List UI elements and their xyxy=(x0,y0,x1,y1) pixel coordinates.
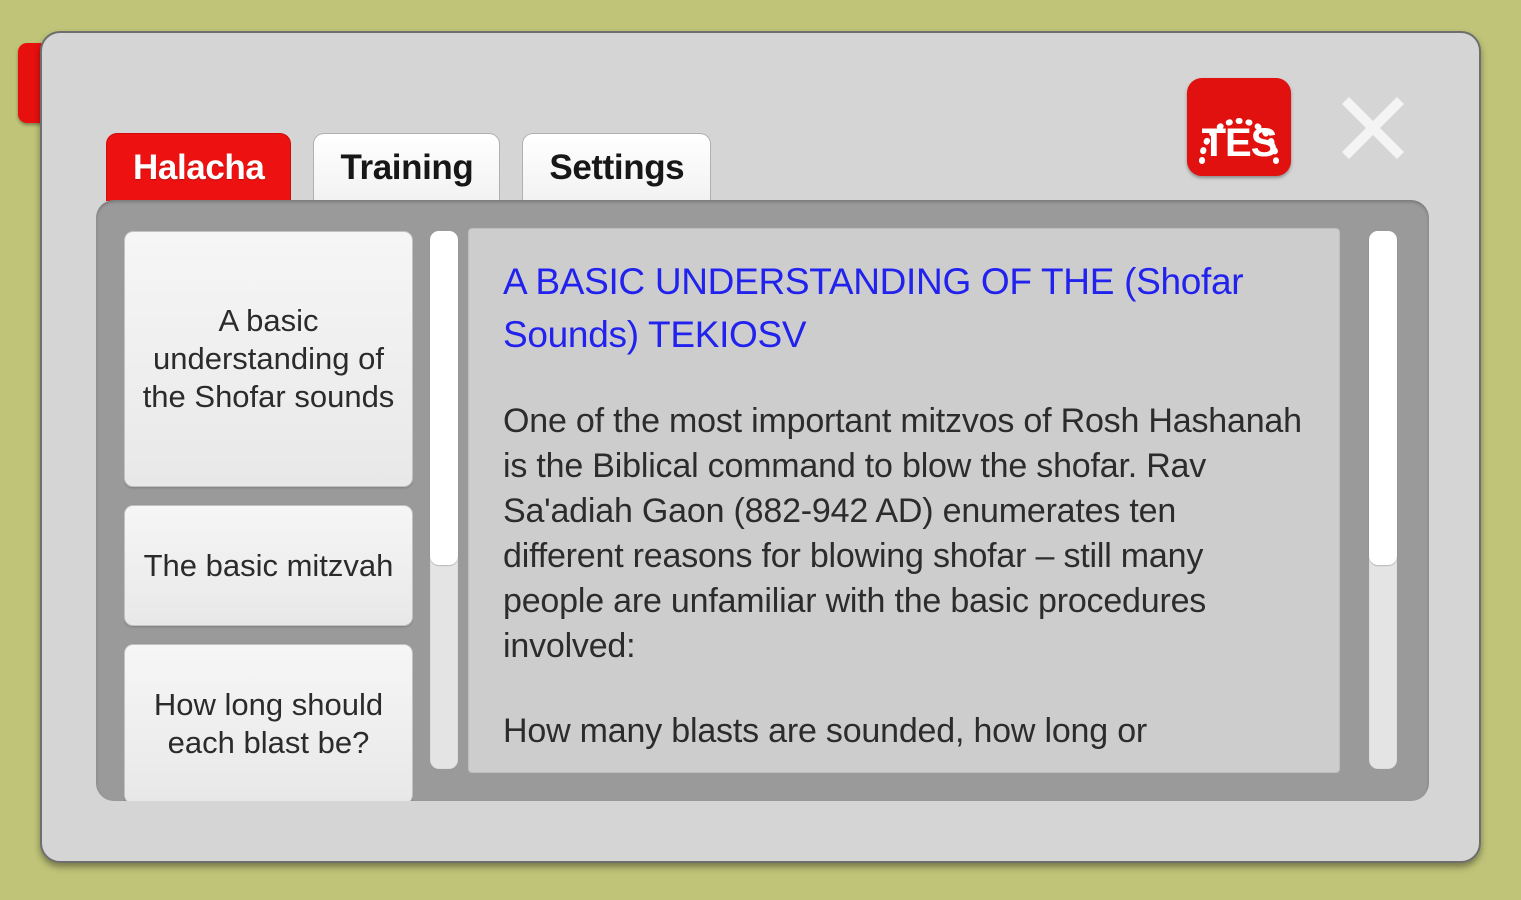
topic-list-scrollbar[interactable] xyxy=(430,231,458,769)
article-scrollbar[interactable] xyxy=(1369,231,1397,769)
article-pane[interactable]: A BASIC UNDERSTANDING OF THE (Shofar Sou… xyxy=(468,228,1340,773)
list-item[interactable]: How long should each blast be? xyxy=(124,644,413,801)
list-item[interactable]: The basic mitzvah xyxy=(124,505,413,626)
content-panel: A basic understanding of the Shofar soun… xyxy=(96,200,1429,801)
tab-halacha-label: Halacha xyxy=(133,148,264,188)
topic-label: How long should each blast be? xyxy=(137,686,400,762)
scrollbar-thumb[interactable] xyxy=(430,231,458,565)
tes-logo-label: TES xyxy=(1187,123,1291,163)
tab-training[interactable]: Training xyxy=(313,133,500,201)
main-dialog: Halacha Training Settings TES A basic un… xyxy=(40,31,1481,863)
tab-settings-label: Settings xyxy=(549,148,684,188)
tes-logo-icon: TES xyxy=(1187,78,1291,176)
tab-settings[interactable]: Settings xyxy=(522,133,711,201)
list-item[interactable]: A basic understanding of the Shofar soun… xyxy=(124,231,413,487)
tab-halacha[interactable]: Halacha xyxy=(106,133,291,201)
topic-label: The basic mitzvah xyxy=(144,547,394,585)
close-x-icon xyxy=(1330,85,1416,171)
topic-list: A basic understanding of the Shofar soun… xyxy=(124,231,413,801)
tab-bar: Halacha Training Settings xyxy=(106,121,711,201)
scrollbar-thumb[interactable] xyxy=(1369,231,1397,565)
article-title: A BASIC UNDERSTANDING OF THE (Shofar Sou… xyxy=(503,255,1305,361)
article-paragraph: How many blasts are sounded, how long or xyxy=(503,709,1305,754)
topic-label: A basic understanding of the Shofar soun… xyxy=(137,302,400,416)
close-button[interactable] xyxy=(1330,85,1416,171)
tab-training-label: Training xyxy=(340,148,473,188)
article-paragraph: One of the most important mitzvos of Ros… xyxy=(503,399,1305,669)
